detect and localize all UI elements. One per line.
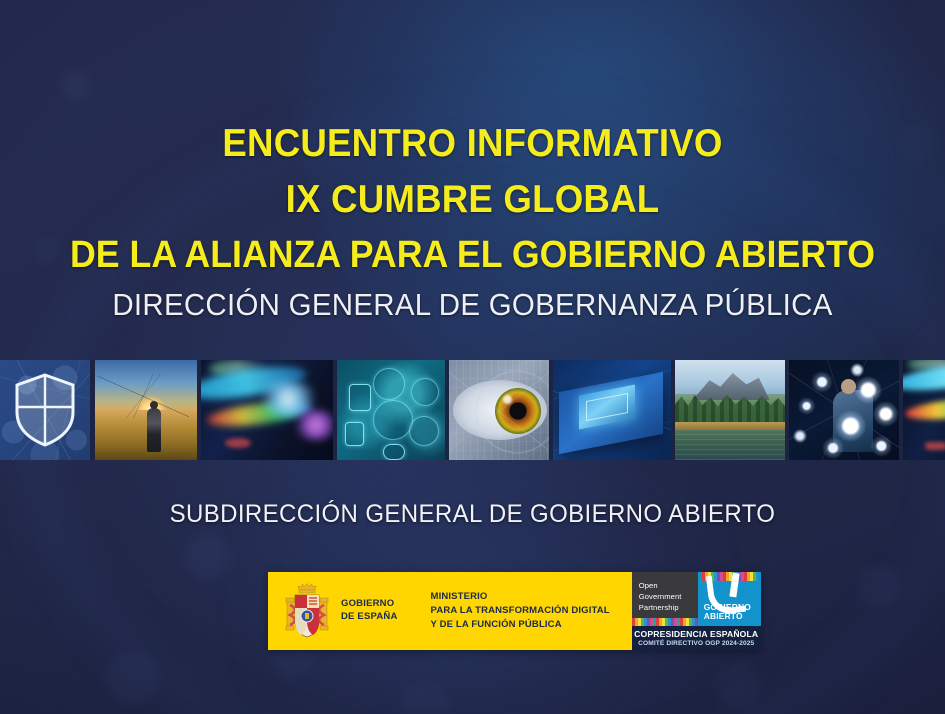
scan-overlay <box>449 360 549 460</box>
ogp-word-3: Partnership <box>639 603 698 614</box>
shield-check-icon <box>373 368 405 400</box>
gobierno-label: GOBIERNO DE ESPAÑA <box>341 598 398 624</box>
band-panel-mountain-lake-nature <box>675 360 785 460</box>
comite-directivo-label: COMITÉ DIRECTIVO OGP 2024-2025 <box>638 640 754 647</box>
open-government-partnership-mark: Open Government Partnership <box>632 572 698 626</box>
ministerio-logo: MINISTERIO PARA LA TRANSFORMACIÓN DIGITA… <box>415 572 632 650</box>
search-document-icon <box>409 416 439 446</box>
title-block: ENCUENTRO INFORMATIVO IX CUMBRE GLOBAL D… <box>0 124 945 320</box>
farmer-silhouette <box>147 408 161 452</box>
document-icon <box>349 384 371 411</box>
bank-icon <box>373 400 413 440</box>
presentation-slide: ENCUENTRO INFORMATIVO IX CUMBRE GLOBAL D… <box>0 0 945 714</box>
department-line: DIRECCIÓN GENERAL DE GOBERNANZA PÚBLICA <box>24 289 922 320</box>
band-panel-processor-chip <box>553 360 671 460</box>
light-bloom <box>293 410 333 440</box>
ogp-word-1: Open <box>639 581 698 592</box>
gobierno-abierto-label: GOBIERNO ABIERTO <box>704 603 751 622</box>
image-band <box>0 360 945 460</box>
light-spot <box>225 438 251 448</box>
irrigation-pivot <box>97 374 189 418</box>
ministerio-line-3: Y DE LA FUNCIÓN PÚBLICA <box>431 618 610 632</box>
title-line-2: IX CUMBRE GLOBAL <box>28 180 916 219</box>
ogp-caption: COPRESIDENCIA ESPAÑOLA COMITÉ DIRECTIVO … <box>632 626 761 650</box>
band-panel-fiber-optics <box>903 360 945 460</box>
lock-icon <box>345 422 364 446</box>
copresidencia-label: COPRESIDENCIA ESPAÑOLA <box>634 629 758 639</box>
shield-icon <box>13 372 77 448</box>
band-panel-biometric-eye-scan <box>449 360 549 460</box>
ogp-logo-top: Open Government Partnership GOBIERNO ABI… <box>632 572 761 626</box>
ogp-word-2: Government <box>639 592 698 603</box>
band-panel-agriculture-field-farmer <box>95 360 197 460</box>
gobierno-abierto-line-2: ABIERTO <box>704 612 751 622</box>
ogp-logo: Open Government Partnership GOBIERNO ABI… <box>632 572 761 650</box>
ogp-words: Open Government Partnership <box>632 572 698 613</box>
band-panel-abstract-light-streaks <box>201 360 333 460</box>
band-panel-network-nodes-person <box>789 360 899 460</box>
database-icon <box>383 444 405 460</box>
ministerio-label: MINISTERIO PARA LA TRANSFORMACIÓN DIGITA… <box>431 590 610 631</box>
band-panel-shield-security <box>0 360 90 460</box>
chart-icon <box>411 378 439 406</box>
subtitle: SUBDIRECCIÓN GENERAL DE GOBIERNO ABIERTO <box>19 500 926 529</box>
spain-coat-of-arms-icon <box>284 581 330 641</box>
logo-bar: GOBIERNO DE ESPAÑA MINISTERIO PARA LA TR… <box>268 572 761 650</box>
ogp-rainbow-bar-icon <box>632 618 698 626</box>
gobierno-de-espana-logo: GOBIERNO DE ESPAÑA <box>268 572 414 650</box>
band-panel-digital-services-icons <box>337 360 445 460</box>
gobierno-line-2: DE ESPAÑA <box>341 611 398 624</box>
title-line-1: ENCUENTRO INFORMATIVO <box>28 124 916 163</box>
gobierno-line-1: GOBIERNO <box>341 598 398 611</box>
network-nodes <box>789 360 899 460</box>
gobierno-abierto-mark: GOBIERNO ABIERTO <box>698 572 761 626</box>
fiber-spot <box>925 442 945 450</box>
fiber-streak <box>904 395 945 423</box>
title-line-3: DE LA ALIANZA PARA EL GOBIERNO ABIERTO <box>28 236 916 274</box>
lake-water <box>675 430 785 460</box>
ministerio-line-2: PARA LA TRANSFORMACIÓN DIGITAL <box>431 604 610 618</box>
ministerio-line-1: MINISTERIO <box>431 590 610 604</box>
